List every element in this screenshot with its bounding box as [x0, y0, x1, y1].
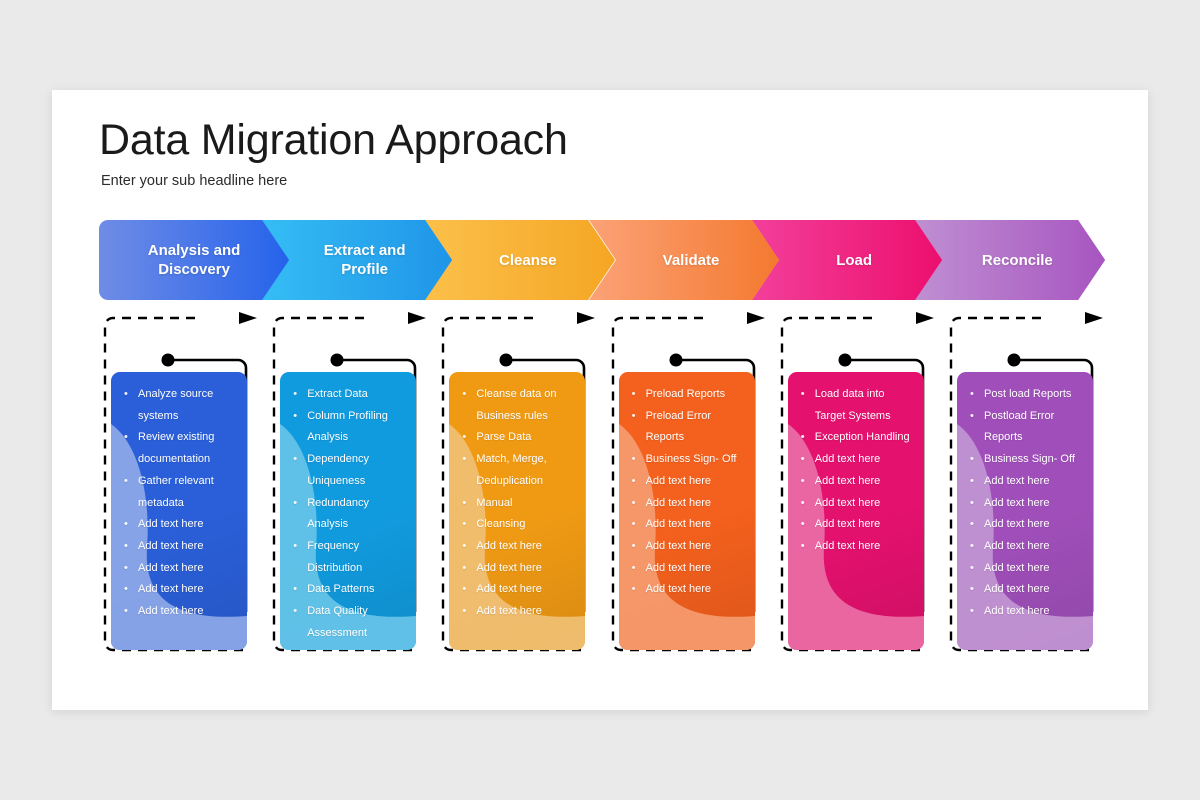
connector-node-dot [500, 354, 513, 367]
card-bullet-item: Add text here [963, 601, 1085, 623]
connector-node-dot [331, 354, 344, 367]
card-bullet-item: Business Sign- Off [625, 449, 747, 471]
card-bullet-item: Add text here [117, 579, 239, 601]
chevron-step-4[interactable]: Validate [589, 220, 779, 300]
card-bullet-item: Load data into Target Systems [794, 384, 916, 427]
card-bullet-list: Load data into Target SystemsException H… [788, 372, 924, 568]
card-bullet-item: Business Sign- Off [963, 449, 1085, 471]
connector-node-dot [1008, 354, 1021, 367]
process-column-5: Load data into Target SystemsException H… [776, 312, 936, 662]
card-bullet-item: Add text here [625, 514, 747, 536]
card-bullet-item: Preload Reports [625, 384, 747, 406]
card-bullet-item: Parse Data [455, 427, 577, 449]
card-bullet-item: Data Quality Assessment [286, 601, 408, 644]
chevron-step-label-4: Validate [657, 251, 726, 270]
card-bullet-item: Dependency Uniqueness [286, 449, 408, 492]
card-bullet-item: Add text here [963, 493, 1085, 515]
process-column-3: Cleanse data on Business rulesParse Data… [437, 312, 597, 662]
card-bullet-list: Post load ReportsPostload Error ReportsB… [957, 372, 1093, 633]
step-card-4[interactable]: Preload ReportsPreload Error ReportsBusi… [619, 372, 755, 650]
card-bullet-item: Add text here [625, 558, 747, 580]
card-bullet-item: Add text here [625, 536, 747, 558]
process-chevron-banner: Analysis and DiscoveryExtract and Profil… [99, 220, 1105, 300]
card-bullet-item: Preload Error Reports [625, 406, 747, 449]
arrowhead-icon [408, 312, 426, 324]
connector-node-dot [838, 354, 851, 367]
chevron-step-label-2: Extract and Profile [318, 241, 412, 279]
card-bullet-item: Match, Merge, Deduplication [455, 449, 577, 492]
process-column-6: Post load ReportsPostload Error ReportsB… [945, 312, 1105, 662]
card-bullet-item: Cleansing [455, 514, 577, 536]
card-bullet-list: Extract DataColumn Profiling AnalysisDep… [280, 372, 416, 650]
process-columns: Analyze source systemsReview existing do… [99, 312, 1105, 662]
card-bullet-item: Data Patterns [286, 579, 408, 601]
card-bullet-item: Add text here [794, 493, 916, 515]
card-bullet-item: Column Profiling Analysis [286, 406, 408, 449]
card-bullet-list: Cleanse data on Business rulesParse Data… [449, 372, 585, 633]
step-card-3[interactable]: Cleanse data on Business rulesParse Data… [449, 372, 585, 650]
process-column-4: Preload ReportsPreload Error ReportsBusi… [607, 312, 767, 662]
card-bullet-item: Add text here [625, 579, 747, 601]
card-bullet-item: Add text here [117, 514, 239, 536]
connector-node-dot [669, 354, 682, 367]
chevron-step-3[interactable]: Cleanse [425, 220, 615, 300]
chevron-step-5[interactable]: Load [752, 220, 942, 300]
arrowhead-icon [577, 312, 595, 324]
chevron-step-label-5: Load [830, 251, 878, 270]
card-bullet-item: Add text here [963, 579, 1085, 601]
card-bullet-item: Add text here [117, 601, 239, 623]
card-bullet-list: Preload ReportsPreload Error ReportsBusi… [619, 372, 755, 611]
card-bullet-item: Add text here [117, 558, 239, 580]
arrowhead-icon [747, 312, 765, 324]
card-bullet-item: Add text here [455, 536, 577, 558]
card-bullet-item: Add text here [963, 514, 1085, 536]
slide-canvas: Data Migration Approach Enter your sub h… [52, 90, 1148, 710]
step-card-1[interactable]: Analyze source systemsReview existing do… [111, 372, 247, 650]
chevron-step-2[interactable]: Extract and Profile [262, 220, 452, 300]
card-bullet-item: Post load Reports [963, 384, 1085, 406]
chevron-step-1[interactable]: Analysis and Discovery [99, 220, 289, 300]
step-card-2[interactable]: Extract DataColumn Profiling AnalysisDep… [280, 372, 416, 650]
card-bullet-item: Add text here [625, 493, 747, 515]
page-subtitle: Enter your sub headline here [101, 173, 287, 189]
card-bullet-item: Add text here [794, 514, 916, 536]
card-bullet-item: Add text here [117, 536, 239, 558]
card-bullet-item: Add text here [963, 558, 1085, 580]
step-card-6[interactable]: Post load ReportsPostload Error ReportsB… [957, 372, 1093, 650]
process-column-1: Analyze source systemsReview existing do… [99, 312, 259, 662]
arrowhead-icon [916, 312, 934, 324]
card-bullet-item: Analyze source systems [117, 384, 239, 427]
card-bullet-item: Redundancy Analysis [286, 493, 408, 536]
step-card-5[interactable]: Load data into Target SystemsException H… [788, 372, 924, 650]
card-bullet-item: Frequency Distribution [286, 536, 408, 579]
chevron-step-label-3: Cleanse [493, 251, 563, 270]
card-bullet-item: Extract Data [286, 384, 408, 406]
page-title: Data Migration Approach [99, 116, 568, 165]
card-bullet-item: Postload Error Reports [963, 406, 1085, 449]
card-bullet-item: Add text here [963, 536, 1085, 558]
connector-node-dot [162, 354, 175, 367]
process-column-2: Extract DataColumn Profiling AnalysisDep… [268, 312, 428, 662]
card-bullet-item: Exception Handling [794, 427, 916, 449]
arrowhead-icon [239, 312, 257, 324]
card-bullet-item: Manual [455, 493, 577, 515]
card-bullet-item: Add text here [794, 449, 916, 471]
card-bullet-list: Analyze source systemsReview existing do… [111, 372, 247, 633]
card-bullet-item: Add text here [625, 471, 747, 493]
card-bullet-item: Add text here [794, 536, 916, 558]
arrowhead-icon [1085, 312, 1103, 324]
chevron-step-label-1: Analysis and Discovery [142, 241, 247, 279]
card-bullet-item: Add text here [794, 471, 916, 493]
chevron-step-6[interactable]: Reconcile [915, 220, 1105, 300]
card-bullet-item: Review existing documentation [117, 427, 239, 470]
card-bullet-item: Add text here [455, 601, 577, 623]
card-bullet-item: Gather relevant metadata [117, 471, 239, 514]
card-bullet-item: Add text here [455, 579, 577, 601]
chevron-step-label-6: Reconcile [976, 251, 1059, 270]
card-bullet-item: Add text here [455, 558, 577, 580]
card-bullet-item: Add text here [963, 471, 1085, 493]
card-bullet-item: Cleanse data on Business rules [455, 384, 577, 427]
